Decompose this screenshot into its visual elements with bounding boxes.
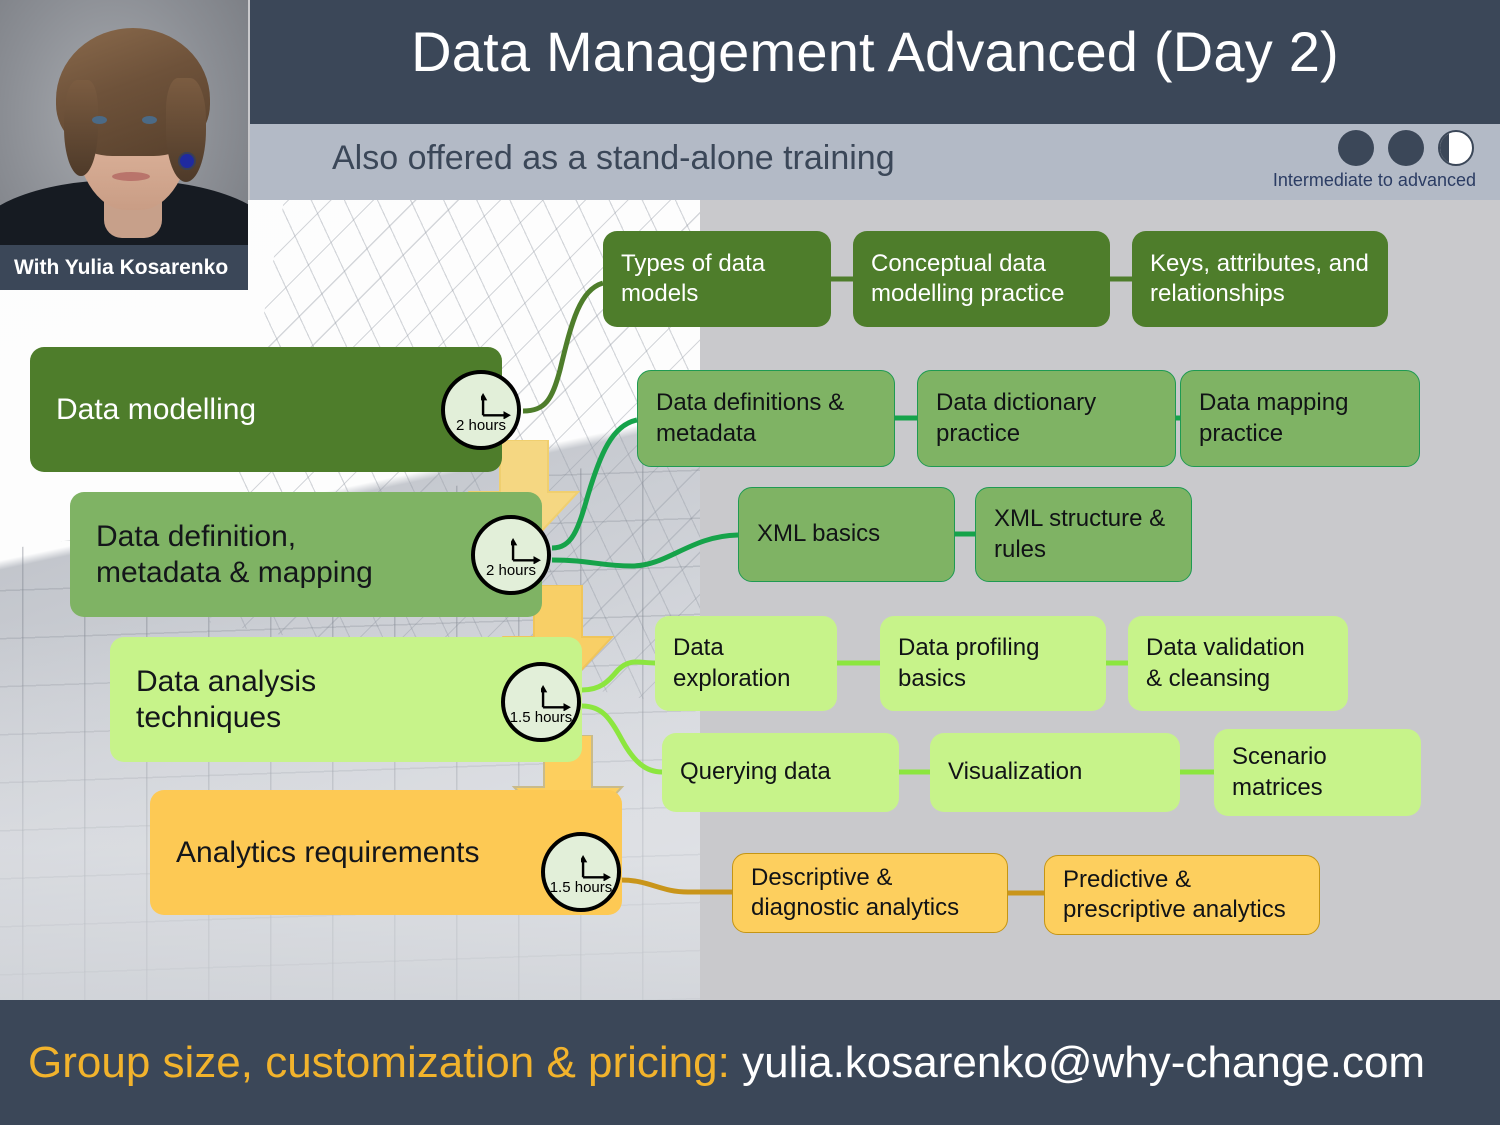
slide-canvas: Data Management Advanced (Day 2) Also of… [0, 0, 1500, 1125]
clock-icon [481, 393, 513, 419]
photo-eye-right [142, 116, 157, 124]
topic-data-mapping-practice[interactable]: Data mappingpractice [1180, 370, 1420, 467]
stage-label-3: Data analysis techniques [136, 664, 316, 735]
topic-label: Data dictionarypractice [936, 388, 1096, 448]
topic-label: Keys, attributes, andrelationships [1150, 249, 1369, 309]
topic-xml-structure-rules[interactable]: XML structure &rules [975, 487, 1192, 582]
topic-data-exploration[interactable]: Dataexploration [655, 616, 837, 711]
photo-earring [178, 152, 196, 170]
photo-mouth [112, 172, 150, 181]
topic-visualization[interactable]: Visualization [930, 733, 1180, 812]
duration-text-2: 2 hours [475, 563, 547, 578]
topic-descriptive-diagnostic-analytics[interactable]: Descriptive &diagnostic analytics [732, 853, 1008, 933]
topic-querying-data[interactable]: Querying data [662, 733, 899, 812]
clock-icon [541, 685, 573, 711]
stage-label-3-line2: techniques [136, 700, 316, 735]
stage-label-2: Data definition, metadata & mapping [96, 519, 373, 590]
contact-footer: Group size, customization & pricing: yul… [0, 1000, 1500, 1125]
topic-data-validation-cleansing[interactable]: Data validation& cleansing [1128, 616, 1348, 711]
photo-eye-left [92, 116, 107, 124]
level-dot-filled-2 [1388, 130, 1424, 166]
topic-data-profiling-basics[interactable]: Data profilingbasics [880, 616, 1106, 711]
topic-data-definitions-metadata[interactable]: Data definitions &metadata [637, 370, 895, 467]
topic-types-of-data-models[interactable]: Types of datamodels [603, 231, 831, 327]
presenter-name-plate: With Yulia Kosarenko [0, 245, 248, 290]
topic-label: Data validation& cleansing [1146, 633, 1305, 693]
topic-label: Predictive &prescriptive analytics [1063, 865, 1286, 925]
duration-clock-4: 1.5 hours [541, 832, 621, 912]
level-dot-half-3 [1438, 130, 1474, 166]
topic-label: XML structure &rules [994, 504, 1165, 564]
topic-label: Types of datamodels [621, 249, 765, 309]
stage-label-4: Analytics requirements [176, 835, 479, 870]
duration-clock-1: 2 hours [441, 370, 521, 450]
level-dots [1218, 130, 1478, 166]
stage-label-3-line1: Data analysis [136, 664, 316, 699]
duration-clock-3: 1.5 hours [501, 662, 581, 742]
topic-label: Data definitions &metadata [656, 388, 844, 448]
topic-label: Querying data [680, 757, 831, 787]
topic-label: Conceptual datamodelling practice [871, 249, 1064, 309]
difficulty-level: Intermediate to advanced [1218, 130, 1478, 191]
level-label: Intermediate to advanced [1218, 170, 1478, 191]
duration-clock-2: 2 hours [471, 515, 551, 595]
footer-text: Group size, customization & pricing: yul… [0, 1038, 1425, 1088]
topic-label: XML basics [757, 519, 880, 549]
topic-conceptual-data-modelling-practice[interactable]: Conceptual datamodelling practice [853, 231, 1110, 327]
topic-scenario-matrices[interactable]: Scenariomatrices [1214, 729, 1421, 816]
footer-label: Group size, customization & pricing: [28, 1038, 730, 1087]
topic-keys-attributes-relationships[interactable]: Keys, attributes, andrelationships [1132, 231, 1388, 327]
topic-label: Visualization [948, 757, 1082, 787]
stage-label-2-line2: metadata & mapping [96, 555, 373, 590]
footer-email[interactable]: yulia.kosarenko@why-change.com [742, 1038, 1425, 1087]
duration-text-3: 1.5 hours [505, 710, 577, 725]
topic-xml-basics[interactable]: XML basics [738, 487, 955, 582]
level-dot-filled-1 [1338, 130, 1374, 166]
duration-text-4: 1.5 hours [545, 880, 617, 895]
page-title: Data Management Advanced (Day 2) [250, 24, 1500, 80]
topic-label: Scenariomatrices [1232, 742, 1327, 802]
topic-label: Dataexploration [673, 633, 790, 693]
stage-label-1: Data modelling [56, 392, 256, 427]
topic-label: Descriptive &diagnostic analytics [751, 863, 959, 923]
subtitle-bar: Also offered as a stand-alone training I… [250, 124, 1500, 200]
stage-box-data-modelling[interactable]: Data modelling [30, 347, 502, 472]
topic-label: Data profilingbasics [898, 633, 1039, 693]
stage-label-2-line1: Data definition, [96, 519, 373, 554]
clock-icon [581, 855, 613, 881]
subtitle-text: Also offered as a stand-alone training [332, 138, 895, 179]
presenter-name: With Yulia Kosarenko [0, 256, 228, 280]
title-bar: Data Management Advanced (Day 2) [250, 0, 1500, 124]
duration-text-1: 2 hours [445, 418, 517, 433]
topic-predictive-prescriptive-analytics[interactable]: Predictive &prescriptive analytics [1044, 855, 1320, 935]
topic-label: Data mappingpractice [1199, 388, 1348, 448]
topic-data-dictionary-practice[interactable]: Data dictionarypractice [917, 370, 1176, 467]
clock-icon [511, 538, 543, 564]
